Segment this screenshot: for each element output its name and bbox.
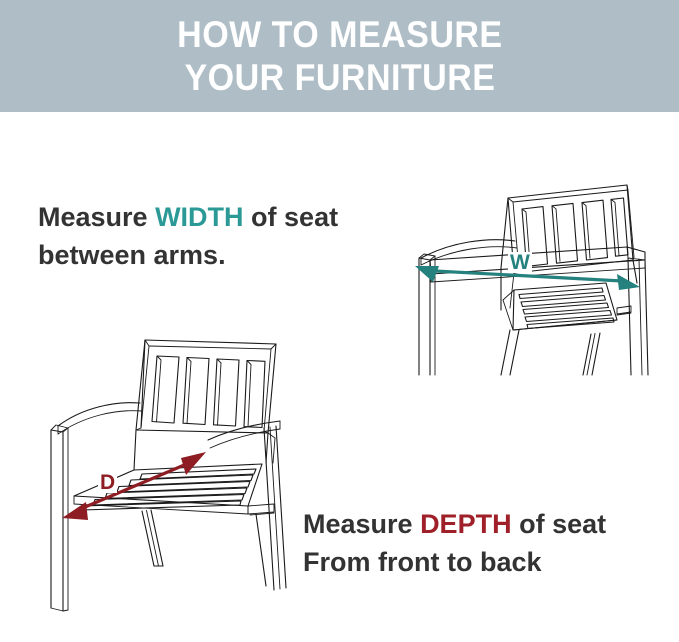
- backrest-slat-3-b: [214, 359, 240, 426]
- back-post-left-b: [134, 430, 136, 470]
- caption-width: Measure WIDTH of seat between arms.: [38, 198, 338, 274]
- depth-arrow-head-front: [62, 502, 88, 520]
- backrest-slat-3-b-inner: [217, 359, 221, 425]
- seat-frame-left-edge: [503, 290, 514, 300]
- depth-dimension-label: D: [98, 472, 117, 493]
- front-leg-left-outer: [501, 330, 510, 375]
- caption-depth: Measure DEPTH of seat From front to back: [303, 505, 606, 581]
- backrest-frame-edge-top-b: [149, 346, 271, 349]
- arm-post-left-top-b: [51, 425, 68, 432]
- infographic-page: HOW TO MEASURE YOUR FURNITURE: [0, 0, 679, 642]
- caption-width-suffix: of seat: [244, 202, 339, 232]
- caption-depth-line-2: From front to back: [303, 543, 606, 581]
- backrest-slat-4-b-inner: [247, 361, 251, 428]
- front-leg-center-outer: [583, 334, 591, 375]
- arm-rail-curve-top-b: [58, 403, 140, 426]
- caption-width-prefix: Measure: [38, 202, 155, 232]
- chair-illustration-depth: [18, 318, 308, 628]
- arm-post-right-edge: [639, 259, 642, 375]
- chair-illustration-width: [395, 140, 679, 375]
- backrest-slat-2-b-inner: [187, 358, 191, 424]
- arm-post-right-inner-b: [276, 426, 286, 588]
- rear-leg-right-b: [256, 514, 266, 586]
- backrest-frame-edge-right-b: [264, 344, 276, 433]
- seat-slat-3: [523, 303, 609, 314]
- caption-depth-line-1: Measure DEPTH of seat: [303, 505, 606, 543]
- arm-rail-curve-bottom-b: [58, 411, 142, 434]
- caption-width-line-2: between arms.: [38, 236, 338, 274]
- width-dimension-label: W: [508, 252, 532, 273]
- header-title-line-2: YOUR FURNITURE: [184, 56, 495, 99]
- arm-post-left-foot-b: [51, 608, 68, 611]
- back-post-right: [633, 260, 637, 283]
- seat-frame-front-edge: [503, 300, 617, 330]
- back-post-right-b-cap: [268, 433, 275, 438]
- caption-depth-prefix: Measure: [303, 509, 420, 539]
- arm-post-right-outer-b: [264, 428, 274, 590]
- backrest-slat-2-b: [183, 358, 209, 425]
- caption-depth-suffix: of seat: [512, 509, 607, 539]
- front-leg-center-inner: [592, 333, 600, 375]
- backrest-slat-1-b: [152, 356, 179, 423]
- arm-post-right-edge-b: [270, 427, 280, 589]
- backrest-slat-4-b: [244, 361, 265, 428]
- header-title-line-1: HOW TO MEASURE: [177, 13, 502, 56]
- seat-slat-4: [525, 311, 612, 322]
- caption-width-keyword: WIDTH: [155, 202, 243, 232]
- back-post-right-b2: [273, 438, 275, 463]
- arm-post-right-inner: [645, 260, 648, 375]
- backrest-slat-1-b-inner: [157, 356, 162, 422]
- side-stretcher-right-b: [248, 504, 274, 514]
- caption-depth-keyword: DEPTH: [420, 509, 512, 539]
- back-post-left-b2: [141, 340, 145, 428]
- arm-post-right-outer: [628, 258, 631, 375]
- caption-width-line-1: Measure WIDTH of seat: [38, 198, 338, 236]
- back-post-left: [501, 198, 508, 310]
- front-leg-center-edge: [587, 334, 595, 376]
- front-leg-left-inner: [510, 330, 519, 375]
- header-banner: HOW TO MEASURE YOUR FURNITURE: [0, 0, 679, 112]
